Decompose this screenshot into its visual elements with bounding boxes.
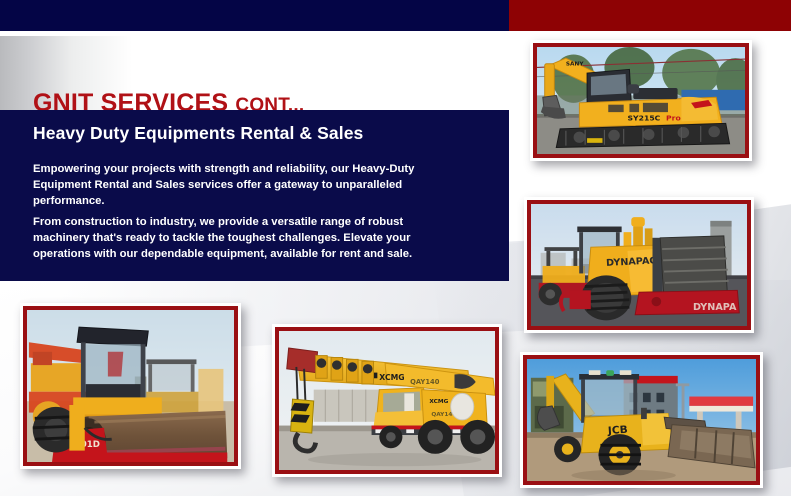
photo-inner-frame: CA301D xyxy=(23,306,238,466)
body-paragraph-2: From construction to industry, we provid… xyxy=(33,214,453,262)
xcmg-mobile-crane-photo: XCMG QAY140 xyxy=(272,324,502,477)
body-paragraph-1: Empowering your projects with strength a… xyxy=(33,161,453,209)
photo-inner-frame: DYNAPAC DYNAPA xyxy=(527,200,751,330)
svg-text:SY215C: SY215C xyxy=(628,114,661,123)
slide-canvas: GNIT SERVICES CONT... Heavy Duty Equipme… xyxy=(0,0,791,496)
dynapac-roller-illustration: DYNAPAC DYNAPA xyxy=(531,204,747,326)
dynapac-roller-photo: DYNAPAC DYNAPA xyxy=(524,197,754,333)
jcb-backhoe-loader-photo: JCB xyxy=(520,352,763,488)
road-roller-illustration: CA301D xyxy=(27,310,234,462)
svg-text:XCMG: XCMG xyxy=(429,399,448,405)
header-bar-red xyxy=(509,0,791,31)
photo-inner-frame: SANY SY215C Pro xyxy=(533,43,749,158)
excavator-illustration: SANY SY215C Pro xyxy=(537,47,745,154)
section-heading: Heavy Duty Equipments Rental & Sales xyxy=(33,123,363,144)
svg-text:DYNAPA: DYNAPA xyxy=(693,302,737,313)
svg-text:Pro: Pro xyxy=(666,114,681,123)
photo-inner-frame: XCMG QAY140 xyxy=(275,327,499,474)
tracked-excavator-photo: SANY SY215C Pro xyxy=(530,40,752,161)
photo-inner-frame: JCB xyxy=(523,355,760,485)
road-roller-photo: CA301D xyxy=(20,303,241,469)
jcb-backhoe-illustration: JCB xyxy=(527,359,756,481)
title-band: GNIT SERVICES CONT... xyxy=(0,36,509,110)
xcmg-crane-illustration: XCMG QAY140 xyxy=(279,331,495,470)
svg-text:XCMG: XCMG xyxy=(379,373,404,382)
svg-text:SANY: SANY xyxy=(566,62,585,68)
svg-text:QAY140: QAY140 xyxy=(410,378,440,386)
header-bar-navy xyxy=(0,0,509,31)
